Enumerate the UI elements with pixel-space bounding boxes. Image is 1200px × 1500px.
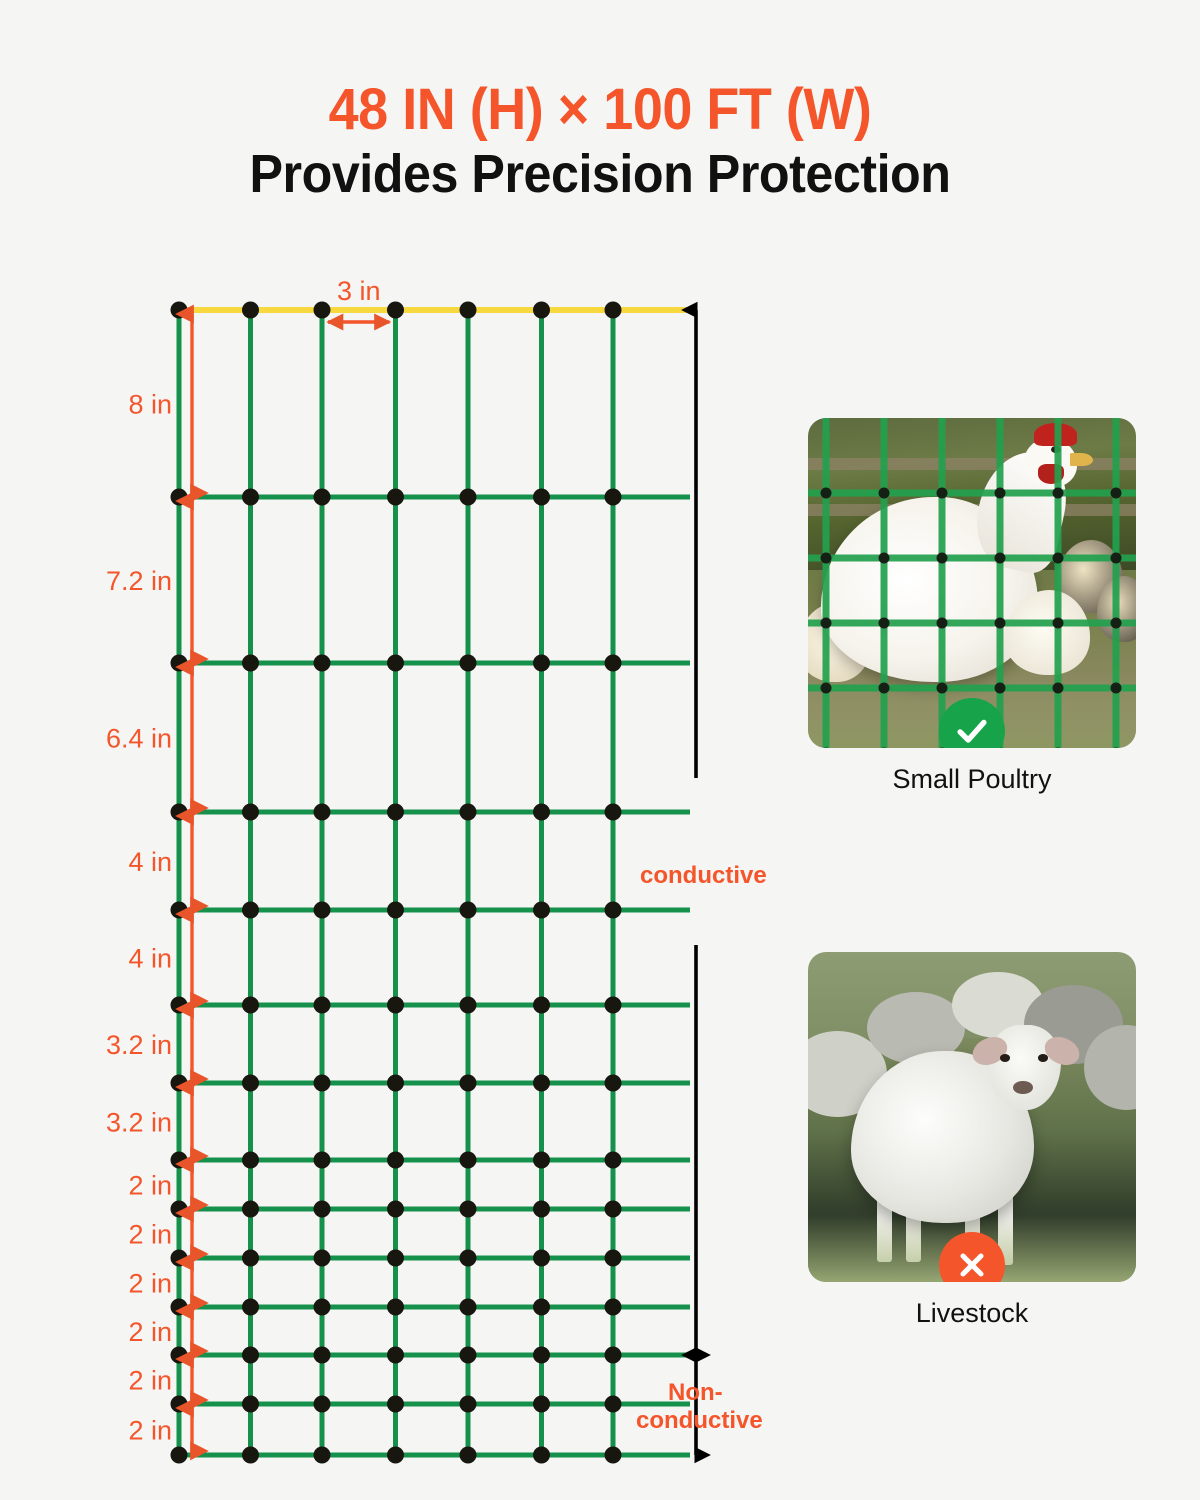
non-conductive-zone-label-line1: Non- <box>668 1379 723 1406</box>
hen-comb <box>1034 423 1077 446</box>
vertical-dimension-label: 2 in <box>128 1269 172 1299</box>
vertical-dimension-label: 7.2 in <box>106 566 172 596</box>
dimension-lines <box>192 314 390 1451</box>
poultry-caption: Small Poultry <box>808 764 1136 795</box>
livestock-caption: Livestock <box>808 1298 1136 1329</box>
vertical-dimension-label: 2 in <box>128 1171 172 1201</box>
vertical-dimension-label: 2 in <box>128 1220 172 1250</box>
vertical-dimension-label: 6.4 in <box>106 724 172 754</box>
poultry-photo-card[interactable] <box>808 418 1136 748</box>
vertical-dimension-label: 3.2 in <box>106 1108 172 1138</box>
vertical-dimension-label: 3.2 in <box>106 1030 172 1060</box>
vertical-dimension-label: 4 in <box>128 847 172 877</box>
check-icon <box>953 712 991 748</box>
vertical-dimension-label: 8 in <box>128 390 172 420</box>
mesh-diagram: 8 in7.2 in6.4 in4 in4 in3.2 in3.2 in2 in… <box>0 0 780 1500</box>
vertical-dimension-label: 2 in <box>128 1366 172 1396</box>
mesh-grid <box>179 310 690 1455</box>
hen-eye <box>1051 446 1061 453</box>
hen-wattle <box>1038 464 1064 484</box>
conductive-zone-label: conductive <box>640 862 767 889</box>
vertical-dimension-label: 4 in <box>128 944 172 974</box>
zone-brackets: conductiveNon-conductive <box>636 310 767 1455</box>
vertical-dimension-label: 2 in <box>128 1317 172 1347</box>
dimension-labels: 8 in7.2 in6.4 in4 in4 in3.2 in3.2 in2 in… <box>106 276 381 1446</box>
horizontal-dimension-label: 3 in <box>337 276 381 306</box>
cross-icon <box>954 1247 990 1282</box>
hen-beak <box>1070 453 1093 466</box>
vertical-dimension-label: 2 in <box>128 1416 172 1446</box>
livestock-photo-card[interactable] <box>808 952 1136 1282</box>
non-conductive-zone-label-line2: conductive <box>636 1407 763 1434</box>
sheep-nose <box>1013 1081 1033 1094</box>
